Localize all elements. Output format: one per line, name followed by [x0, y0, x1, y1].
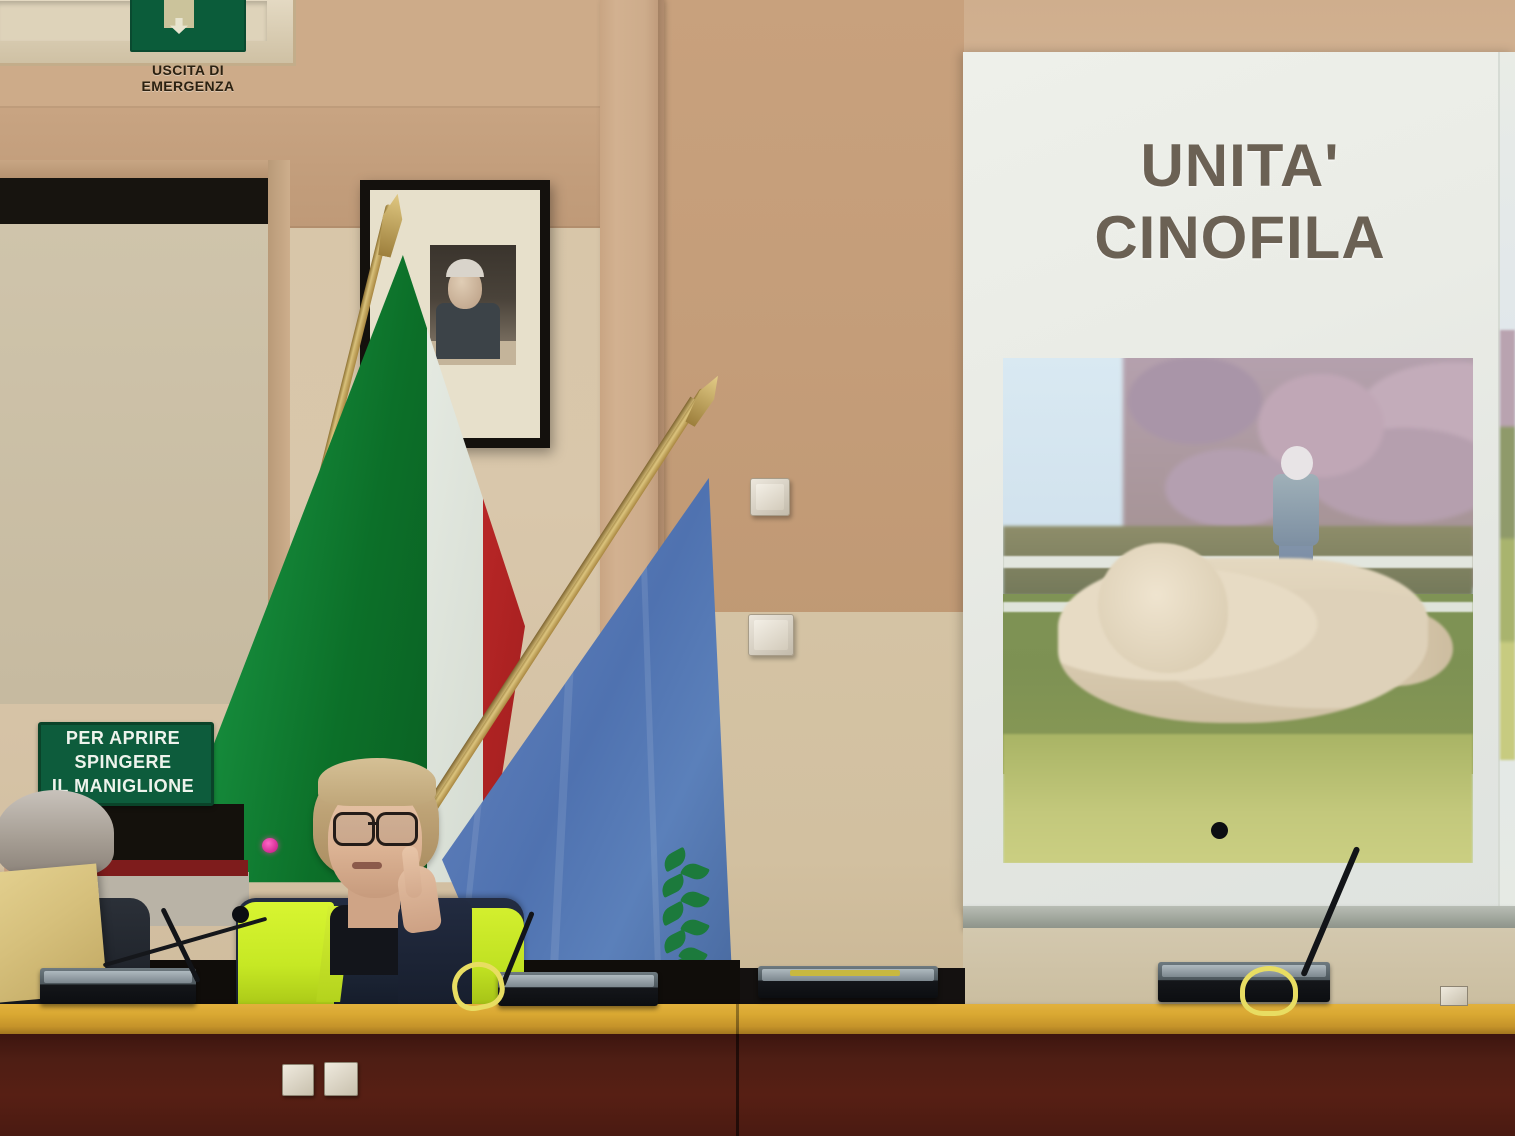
outlet-plate-right[interactable]	[324, 1062, 358, 1096]
slide-handler-torso	[1273, 474, 1319, 546]
exit-line-1: USCITA DI	[152, 62, 224, 78]
wall-switch-upper[interactable]	[750, 478, 790, 516]
mic-cable-loop-far-right	[1240, 966, 1298, 1016]
slide-title-line-1: UNITA'	[1140, 132, 1339, 199]
seated-man-hair	[0, 790, 114, 876]
wall-switch-upper-face	[756, 484, 784, 510]
emergency-exit-label: USCITA DIEMERGENZA	[118, 62, 258, 94]
desk-plate-far-right	[1440, 986, 1468, 1006]
speaker-glasses-right-lens	[376, 812, 418, 846]
door-push-bar[interactable]	[96, 860, 248, 876]
slide-handler-head	[1281, 446, 1313, 480]
wall-switch-lower-face	[754, 620, 788, 650]
push-to-open-label: PER APRIRESPINGEREIL MANIGLIONE	[42, 726, 204, 798]
second-screen-image-sliver	[1500, 330, 1515, 760]
portrait-body	[436, 303, 500, 359]
outlet-plate-left[interactable]	[282, 1064, 314, 1096]
mic-capsule-left	[232, 906, 249, 923]
door-panel	[0, 224, 272, 704]
speaker-fringe	[318, 758, 436, 806]
desk-panel-seam	[736, 1034, 739, 1136]
portrait-hair	[446, 259, 484, 277]
push-line-1: PER APRIRE	[66, 728, 180, 748]
emergency-exit-icon	[130, 0, 246, 52]
wall-switch-lower[interactable]	[748, 614, 794, 656]
mic-plate-left	[44, 971, 192, 983]
portrait-photo	[430, 245, 516, 365]
flag-pin-icon	[262, 838, 278, 853]
door-lintel	[0, 160, 286, 180]
door-dark-band	[0, 178, 278, 224]
mic-base-center[interactable]	[498, 972, 658, 1006]
mic-capsule-far-right	[1211, 822, 1228, 839]
slide-title-line-2: CINOFILA	[1094, 204, 1385, 271]
speaker-glasses-left-lens	[333, 812, 375, 846]
photo-scene: USCITA DIEMERGENZA	[0, 0, 1515, 1136]
screen-ledge	[963, 906, 1515, 928]
slide-title: UNITA'CINOFILA	[1000, 130, 1480, 274]
speaker-glasses-bridge	[368, 822, 378, 825]
slide-image	[1003, 358, 1473, 863]
mic-plate-center	[502, 975, 654, 987]
slide-grass-lower	[1003, 734, 1473, 863]
push-line-2: SPINGERE	[74, 752, 171, 772]
desk-front-panel	[0, 1034, 1515, 1136]
desk-top-seam	[736, 1004, 739, 1034]
mic-base-left[interactable]	[40, 968, 196, 1004]
exit-line-2: EMERGENZA	[141, 78, 234, 94]
mic-cable-right-of-center	[790, 970, 900, 976]
speaker-mouth	[352, 862, 382, 869]
